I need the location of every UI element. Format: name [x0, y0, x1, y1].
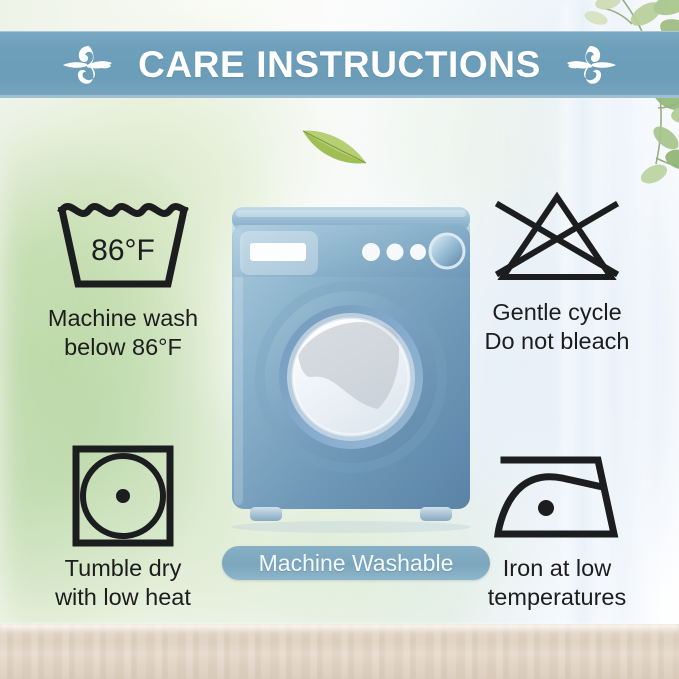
care-item-caption: Gentle cycle Do not bleach	[452, 298, 662, 355]
wooden-table-edge	[0, 624, 679, 633]
page-title: CARE INSTRUCTIONS	[138, 46, 541, 83]
banner: CARE INSTRUCTIONS	[0, 31, 679, 98]
eucalyptus-branch-icon	[584, 0, 679, 198]
detergent-drawer	[240, 231, 318, 275]
tumble-dry-low-heat-icon	[18, 440, 228, 552]
fleur-de-lis-icon-right	[563, 42, 621, 88]
fleur-de-lis-icon-left	[58, 42, 116, 88]
wash-tub-icon: 86°F	[18, 190, 228, 302]
care-item-gentle-cycle-no-bleach: Gentle cycle Do not bleach	[452, 184, 662, 355]
wash-temperature-value: 86°F	[91, 234, 155, 267]
care-item-machine-wash: 86°F Machine wash below 86°F	[18, 190, 228, 361]
care-item-caption: Tumble dry with low heat	[18, 554, 228, 611]
washer-control-knob	[429, 233, 466, 270]
washing-machine-illustration	[228, 207, 474, 537]
care-instructions-infographic: CARE INSTRUCTIONS 86°F Machine wash belo…	[0, 0, 679, 679]
floating-leaf-icon	[300, 122, 370, 168]
status-badge: Machine Washable	[222, 546, 490, 580]
washer-door	[255, 281, 447, 473]
care-item-iron-low: Iron at low temperatures	[452, 440, 662, 611]
iron-low-temperature-icon	[452, 440, 662, 552]
status-badge-label: Machine Washable	[259, 552, 454, 575]
crossed-triangle-no-bleach-icon	[452, 184, 662, 296]
care-item-tumble-dry: Tumble dry with low heat	[18, 440, 228, 611]
washer-indicator-dots	[362, 243, 426, 261]
washer-feet	[250, 507, 452, 521]
care-item-caption: Machine wash below 86°F	[18, 304, 228, 361]
